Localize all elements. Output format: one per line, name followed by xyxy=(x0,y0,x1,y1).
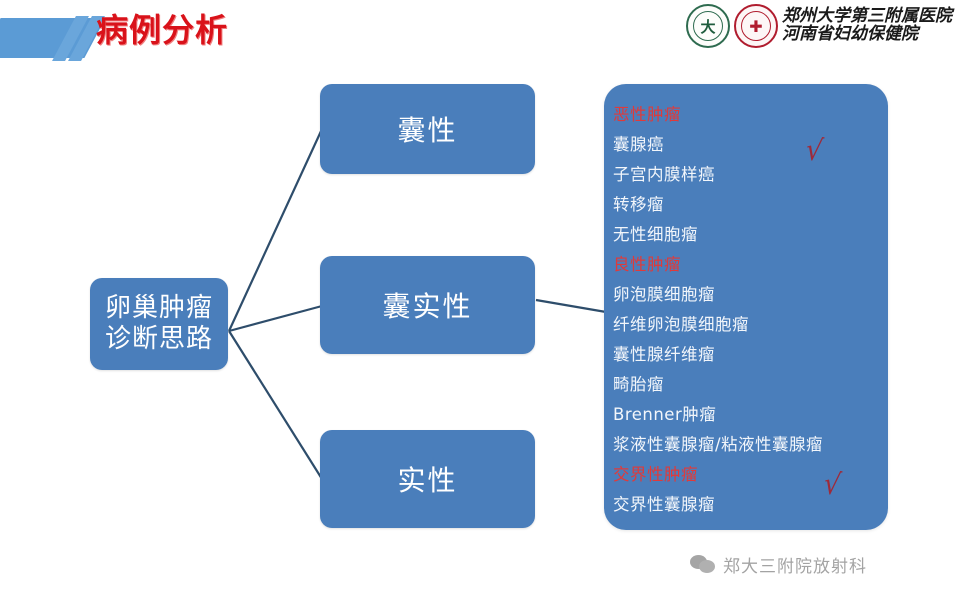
list-group-heading: 良性肿瘤 xyxy=(613,250,884,280)
slide-canvas: 病例分析 大 ✚ 郑州大学第三附属医院 河南省妇幼保健院 卵巢肿瘤 诊断思路 囊… xyxy=(0,0,960,605)
list-item: 纤维卵泡膜细胞瘤 xyxy=(613,310,884,340)
university-emblem-icon: 大 xyxy=(686,4,730,48)
list-item: Brenner肿瘤 xyxy=(613,400,884,430)
list-item: 子宫内膜样癌 xyxy=(613,160,884,190)
list-item: 交界性囊腺瘤 xyxy=(613,490,884,520)
tumor-type-list: 恶性肿瘤囊腺癌子宫内膜样癌转移瘤无性细胞瘤良性肿瘤卵泡膜细胞瘤纤维卵泡膜细胞瘤囊… xyxy=(613,100,884,520)
list-item: 囊性腺纤维瘤 xyxy=(613,340,884,370)
hospital-emblem-char: ✚ xyxy=(741,11,771,41)
list-item: 无性细胞瘤 xyxy=(613,220,884,250)
hospital-logo: 大 ✚ 郑州大学第三附属医院 河南省妇幼保健院 xyxy=(686,4,952,48)
node-cystic[interactable]: 囊性 xyxy=(320,84,535,174)
list-item: 转移瘤 xyxy=(613,190,884,220)
list-item: 囊腺癌 xyxy=(613,130,884,160)
node-root[interactable]: 卵巢肿瘤 诊断思路 xyxy=(90,278,228,370)
wechat-icon xyxy=(690,555,716,575)
hospital-name-line-2: 河南省妇幼保健院 xyxy=(782,26,952,44)
university-emblem-char: 大 xyxy=(693,11,723,41)
list-item: 卵泡膜细胞瘤 xyxy=(613,280,884,310)
hospital-logo-text: 郑州大学第三附属医院 河南省妇幼保健院 xyxy=(782,8,952,44)
tumor-type-list-panel: 恶性肿瘤囊腺癌子宫内膜样癌转移瘤无性细胞瘤良性肿瘤卵泡膜细胞瘤纤维卵泡膜细胞瘤囊… xyxy=(604,84,888,530)
list-group-heading: 恶性肿瘤 xyxy=(613,100,884,130)
list-item: 浆液性囊腺瘤/粘液性囊腺瘤 xyxy=(613,430,884,460)
footer-watermark: 郑大三附院放射科 xyxy=(690,552,867,577)
list-item: 畸胎瘤 xyxy=(613,370,884,400)
hospital-emblem-icon: ✚ xyxy=(734,4,778,48)
list-group-heading: 交界性肿瘤 xyxy=(613,460,884,490)
page-title: 病例分析 xyxy=(96,14,228,46)
node-root-line-2: 诊断思路 xyxy=(105,324,213,355)
checkmark-malignant: √ xyxy=(804,135,825,167)
node-cystic-solid[interactable]: 囊实性 xyxy=(320,256,535,354)
checkmark-borderline: √ xyxy=(822,469,843,501)
node-solid[interactable]: 实性 xyxy=(320,430,535,528)
node-root-line-1: 卵巢肿瘤 xyxy=(105,293,213,324)
watermark-text: 郑大三附院放射科 xyxy=(723,552,867,577)
